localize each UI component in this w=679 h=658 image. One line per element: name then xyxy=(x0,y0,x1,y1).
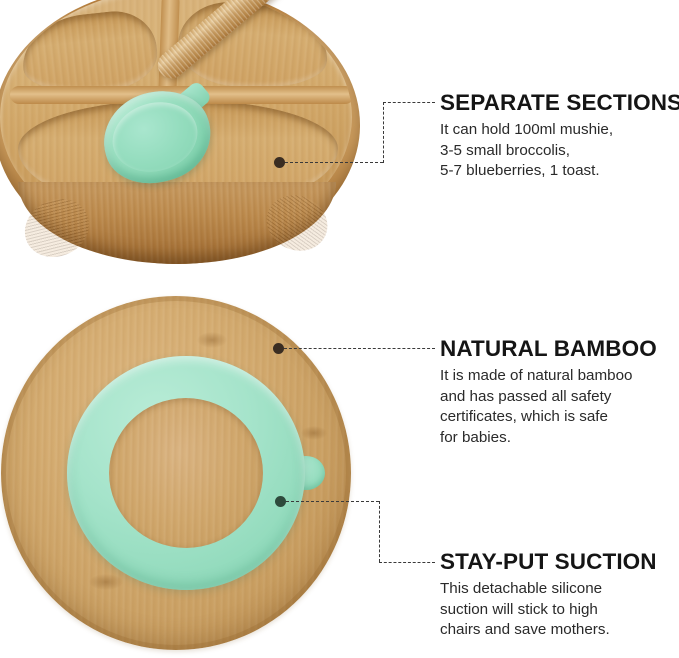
leader-line-3-segment-a xyxy=(286,501,379,502)
callout-body-natural-bamboo: It is made of natural bamboo and has pas… xyxy=(440,366,679,448)
product-image-plate-underside xyxy=(1,296,353,652)
divider-ridge-horizontal xyxy=(10,86,352,104)
bamboo-knot xyxy=(89,574,123,590)
compartment-upper-right xyxy=(175,0,332,94)
callout-separate-sections: SEPARATE SECTIONS It can hold 100ml mush… xyxy=(440,90,679,182)
callout-body-stay-put-suction: This detachable silicone suction will st… xyxy=(440,579,679,641)
callout-title-separate-sections: SEPARATE SECTIONS xyxy=(440,90,679,116)
divider-ridge-vertical xyxy=(158,0,180,98)
callout-stay-put-suction: STAY-PUT SUCTION This detachable silicon… xyxy=(440,549,679,641)
infographic-canvas: SEPARATE SECTIONS It can hold 100ml mush… xyxy=(0,0,679,658)
leader-line-2 xyxy=(284,348,435,349)
leader-line-1-segment-b xyxy=(383,102,384,163)
product-image-divided-plate xyxy=(0,0,364,268)
leader-line-3-segment-b xyxy=(379,501,380,562)
callout-title-stay-put-suction: STAY-PUT SUCTION xyxy=(440,549,679,575)
callout-natural-bamboo: NATURAL BAMBOO It is made of natural bam… xyxy=(440,336,679,448)
leader-line-1-segment-a xyxy=(285,162,383,163)
bamboo-knot xyxy=(301,426,327,440)
callout-body-separate-sections: It can hold 100ml mushie, 3-5 small broc… xyxy=(440,120,679,182)
leader-line-3-segment-c xyxy=(379,562,435,563)
suction-ring-inner-bamboo xyxy=(109,398,263,548)
callout-title-natural-bamboo: NATURAL BAMBOO xyxy=(440,336,679,362)
leader-line-1-segment-c xyxy=(383,102,435,103)
leader-dot-natural-bamboo xyxy=(273,343,284,354)
bamboo-knot xyxy=(197,332,227,348)
leader-dot-stay-put-suction xyxy=(275,496,286,507)
leader-dot-separate-sections xyxy=(274,157,285,168)
